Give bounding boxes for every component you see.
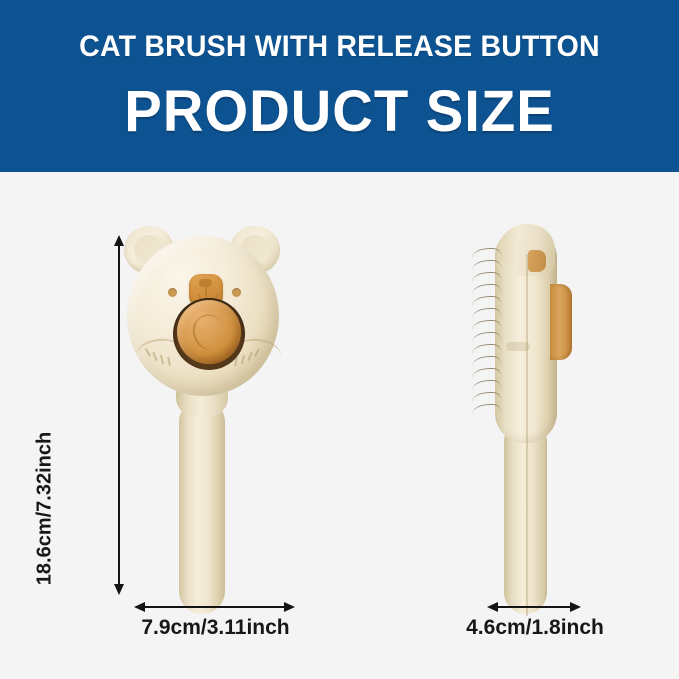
- brush-bristles: [472, 248, 502, 416]
- bristle-pin: [472, 260, 502, 270]
- front-handle: [179, 399, 225, 614]
- bristle-pin: [472, 368, 502, 378]
- front-width-dimension-label: 7.9cm/3.11inch: [118, 616, 313, 640]
- banner-subtitle: CAT BRUSH WITH RELEASE BUTTON: [17, 30, 662, 64]
- height-dimension-label: 18.6cm/7.32inch: [34, 429, 57, 589]
- bear-eye-left-icon: [168, 288, 177, 297]
- front-width-dimension-line: [143, 606, 286, 608]
- release-button[interactable]: [177, 300, 241, 364]
- bristle-pin: [472, 284, 502, 294]
- arrow-right-icon: [570, 602, 581, 612]
- release-button-swirl: [188, 310, 230, 354]
- bristle-pin: [472, 272, 502, 282]
- bristle-pin: [472, 404, 502, 414]
- side-release-button[interactable]: [550, 284, 572, 360]
- arrow-right-icon: [284, 602, 295, 612]
- bristle-pin: [472, 392, 502, 402]
- bear-eye-right-icon: [232, 288, 241, 297]
- side-width-dimension-line: [496, 606, 572, 608]
- side-button-top: [528, 250, 546, 272]
- arrow-down-icon: [114, 584, 124, 595]
- bristle-pin: [472, 296, 502, 306]
- bristle-pin: [472, 380, 502, 390]
- side-width-dimension-label: 4.6cm/1.8inch: [455, 616, 615, 640]
- side-seam-line: [526, 254, 528, 616]
- bristle-pin: [472, 344, 502, 354]
- bear-head: [127, 236, 279, 396]
- bristle-pin: [472, 308, 502, 318]
- bristle-pin: [472, 332, 502, 342]
- bristle-pin: [472, 320, 502, 330]
- header-banner: CAT BRUSH WITH RELEASE BUTTON PRODUCT SI…: [0, 0, 679, 172]
- product-front-view: [122, 224, 312, 634]
- product-side-view: [470, 224, 610, 634]
- side-logo-emboss: [506, 342, 530, 351]
- height-dimension-line: [118, 244, 120, 587]
- page-title: PRODUCT SIZE: [10, 82, 669, 142]
- bristle-pin: [472, 356, 502, 366]
- product-stage: 18.6cm/7.32inch 7.9cm/3.11inch 4.6cm/1.8…: [0, 172, 679, 679]
- bristle-pin: [472, 248, 502, 258]
